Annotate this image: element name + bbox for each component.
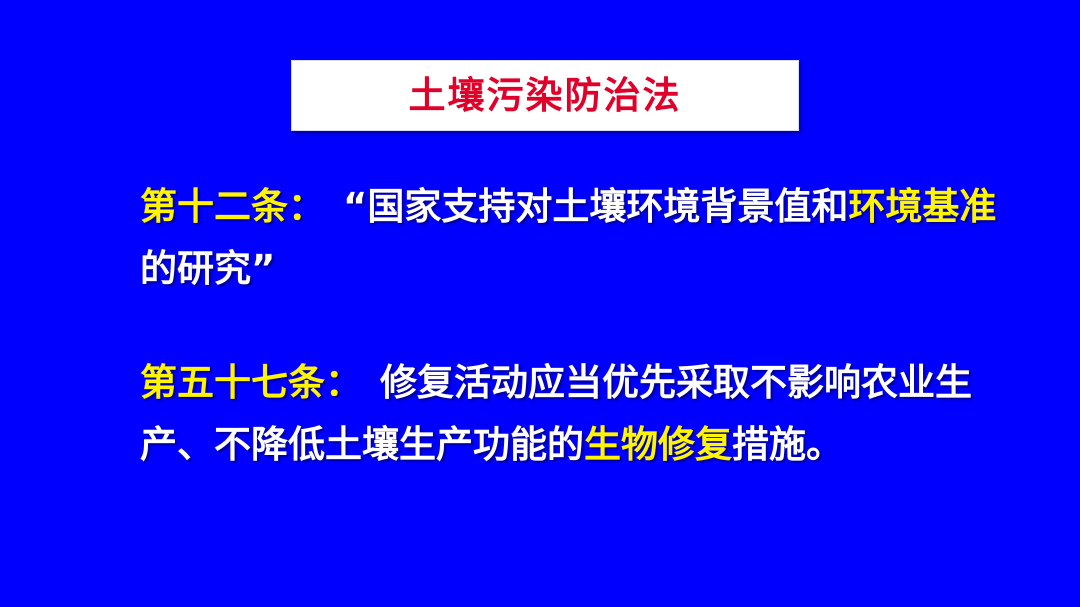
title-plate: 土壤污染防治法 [291,60,799,131]
slide-body: 第十二条：“国家支持对土壤环境背景值和环境基准的研究” 第五十七条：修复活动应当… [140,176,1020,476]
article-57-highlight: 生物修复 [584,423,732,466]
paragraph-article-57: 第五十七条：修复活动应当优先采取不影响农业生产、不降低土壤生产功能的生物修复措施… [140,352,1020,476]
article-12-segment-3: 的研究” [140,247,275,290]
article-label-12: 第十二条： [140,185,325,228]
paragraph-article-12: 第十二条：“国家支持对土壤环境背景值和环境基准的研究” [140,176,1020,300]
article-label-57: 第五十七条： [140,361,362,404]
article-57-segment-3: 措施。 [732,423,843,466]
article-12-highlight: 环境基准 [848,185,996,228]
page-title: 土壤污染防治法 [409,77,682,114]
article-12-segment-1: “国家支持对土壤环境背景值和 [343,185,848,228]
slide-canvas: 土壤污染防治法 第十二条：“国家支持对土壤环境背景值和环境基准的研究” 第五十七… [0,0,1080,607]
